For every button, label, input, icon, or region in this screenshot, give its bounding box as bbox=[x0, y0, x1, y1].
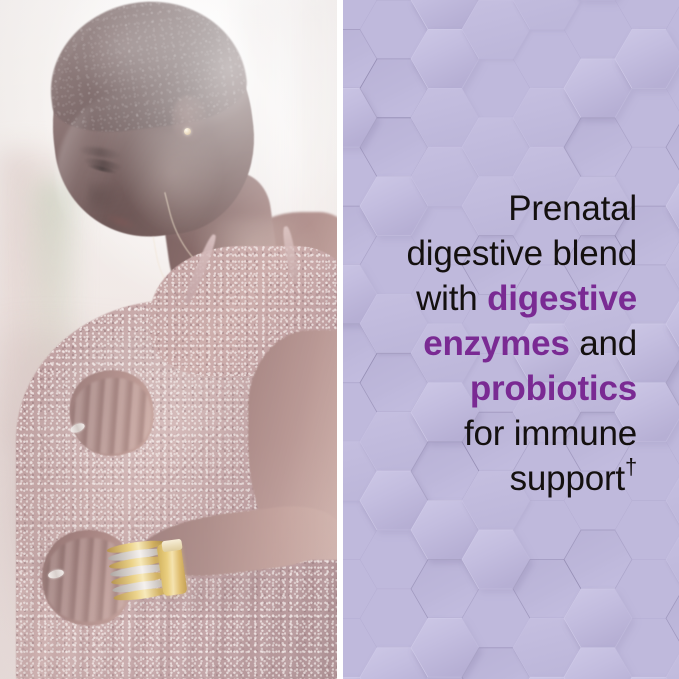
headline-line-6: for immune bbox=[375, 411, 637, 456]
headline-line-1-text: Prenatal bbox=[508, 189, 637, 228]
headline-line-2-text: digestive blend bbox=[407, 234, 638, 273]
headline-line-2: digestive blend bbox=[375, 231, 637, 276]
headline-line-5: probiotics bbox=[375, 366, 637, 411]
pregnant-woman-figure bbox=[0, 0, 337, 679]
copy-panel: Prenatal digestive blend with digestive … bbox=[343, 0, 679, 679]
headline-line-6-text: for immune bbox=[464, 414, 637, 453]
headline-line-4: enzymes and bbox=[375, 321, 637, 366]
headline-copy: Prenatal digestive blend with digestive … bbox=[375, 186, 637, 501]
highlight-enzymes: enzymes bbox=[423, 324, 569, 363]
footnote-dagger-symbol: † bbox=[625, 454, 637, 479]
headline-line-7-text: support bbox=[510, 459, 625, 498]
highlight-digestive: digestive bbox=[487, 279, 637, 318]
stud-earring bbox=[184, 128, 191, 135]
nose bbox=[88, 182, 124, 216]
headline-line-3: with digestive bbox=[375, 276, 637, 321]
headline-line-3-plain: with bbox=[416, 279, 487, 318]
product-feature-banner: Prenatal digestive blend with digestive … bbox=[0, 0, 679, 679]
headline-line-7: support† bbox=[375, 456, 637, 501]
lifestyle-photo bbox=[0, 0, 337, 679]
headline-line-4-plain: and bbox=[570, 324, 637, 363]
highlight-probiotics: probiotics bbox=[470, 369, 637, 408]
headline-line-1: Prenatal bbox=[375, 186, 637, 231]
